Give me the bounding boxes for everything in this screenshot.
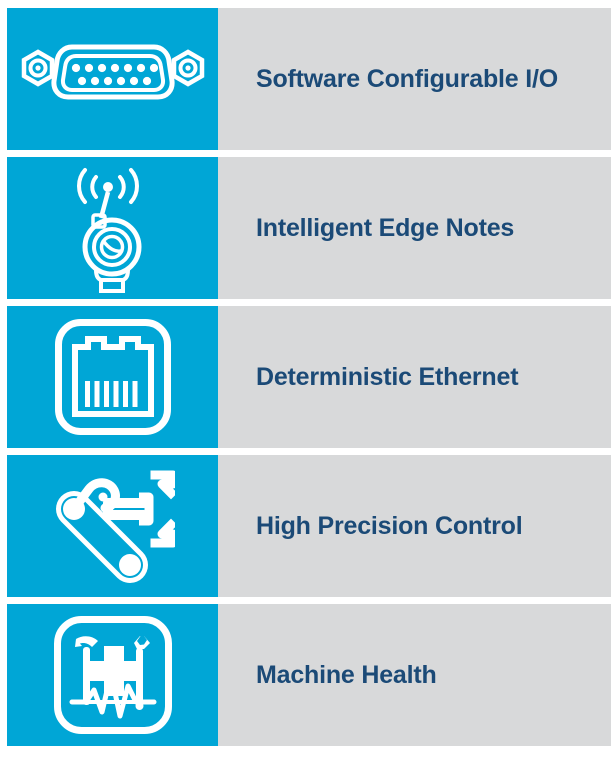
wireless-sensor-icon (65, 163, 161, 293)
label-panel: Deterministic Ethernet (218, 306, 611, 448)
feature-row[interactable]: Intelligent Edge Notes (7, 157, 611, 299)
feature-label: Deterministic Ethernet (256, 363, 518, 392)
icon-tile-deterministic-ethernet (7, 306, 218, 448)
feature-label: Machine Health (256, 661, 437, 690)
icon-tile-high-precision-control (7, 455, 218, 597)
feature-list: Software Configurable I/O (7, 8, 611, 759)
ethernet-port-icon (55, 319, 171, 435)
feature-row[interactable]: Deterministic Ethernet (7, 306, 611, 448)
label-panel: Software Configurable I/O (218, 8, 611, 150)
feature-label: Software Configurable I/O (256, 65, 558, 94)
feature-row[interactable]: Machine Health (7, 604, 611, 746)
icon-tile-software-configurable-io (7, 8, 218, 150)
label-panel: Intelligent Edge Notes (218, 157, 611, 299)
robotic-arm-icon (51, 467, 175, 585)
feature-row[interactable]: High Precision Control (7, 455, 611, 597)
label-panel: High Precision Control (218, 455, 611, 597)
icon-tile-machine-health (7, 604, 218, 746)
feature-label: Intelligent Edge Notes (256, 214, 514, 243)
label-panel: Machine Health (218, 604, 611, 746)
feature-label: High Precision Control (256, 512, 522, 541)
icon-tile-intelligent-edge-notes (7, 157, 218, 299)
machine-health-icon (54, 616, 172, 734)
dsub-connector-icon (20, 43, 206, 115)
feature-row[interactable]: Software Configurable I/O (7, 8, 611, 150)
